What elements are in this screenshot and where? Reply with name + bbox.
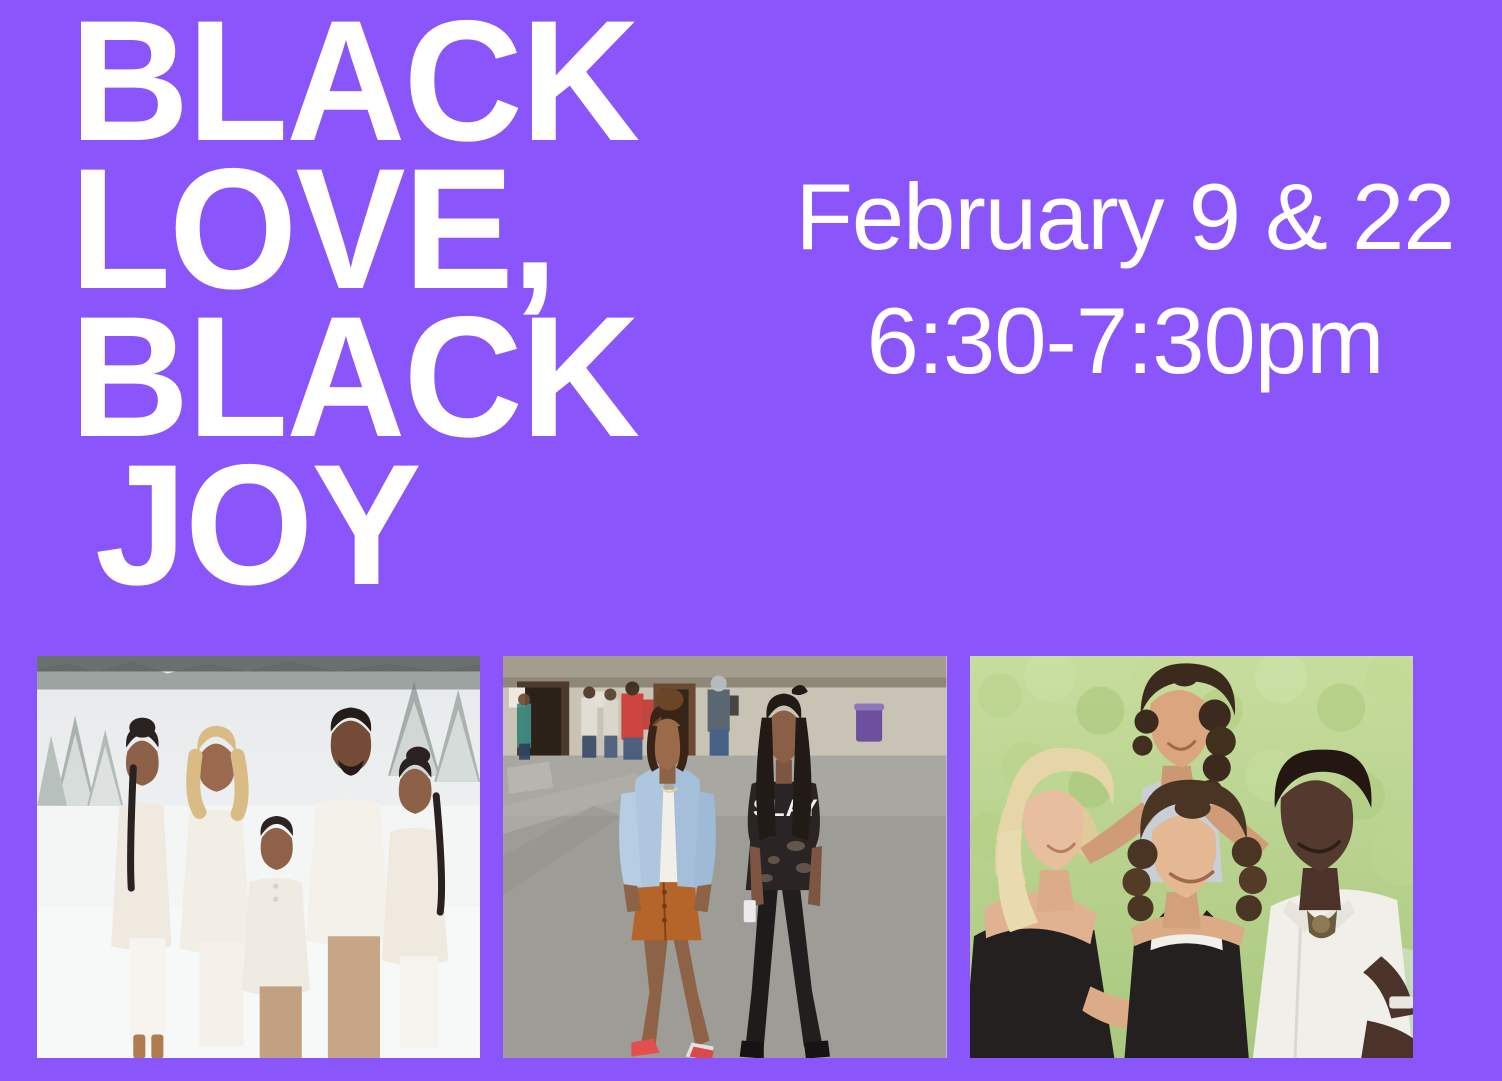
event-date: February 9 & 22 — [752, 155, 1498, 279]
event-time: 6:30-7:30pm — [752, 279, 1498, 403]
interracial-family-outdoors-photo — [970, 656, 1413, 1058]
headline-line-4: JOY — [70, 452, 608, 600]
event-flyer: BLACK LOVE, BLACK JOY February 9 & 22 6:… — [0, 0, 1502, 1081]
flyer-top-area: BLACK LOVE, BLACK JOY February 9 & 22 6:… — [0, 0, 1502, 655]
family-in-snow-photo — [37, 656, 480, 1058]
page-title: BLACK LOVE, BLACK JOY — [70, 8, 630, 600]
two-teens-schoolyard-photo: SLAY — [503, 656, 946, 1058]
event-datetime: February 9 & 22 6:30-7:30pm — [752, 155, 1498, 403]
photo-strip: SLAY — [37, 656, 1413, 1058]
